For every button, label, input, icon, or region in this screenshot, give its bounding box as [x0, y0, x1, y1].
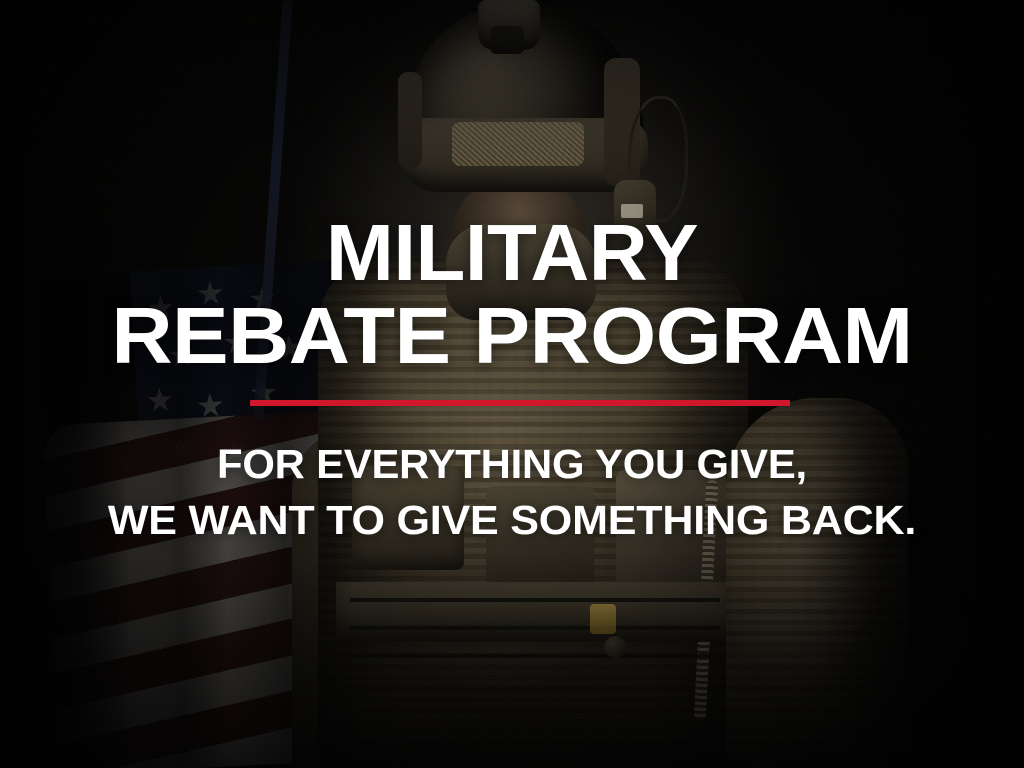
headline-line-1: MILITARY — [0, 214, 1024, 292]
red-divider-rule — [250, 400, 790, 406]
headline-line-2: REBATE PROGRAM — [0, 297, 1024, 375]
subheadline-line-2: WE WANT TO GIVE SOMETHING BACK. — [0, 500, 1024, 541]
subheadline-line-1: FOR EVERYTHING YOU GIVE, — [0, 444, 1024, 485]
text-overlay: MILITARY REBATE PROGRAM FOR EVERYTHING Y… — [0, 0, 1024, 768]
promo-banner: MILITARY REBATE PROGRAM FOR EVERYTHING Y… — [0, 0, 1024, 768]
